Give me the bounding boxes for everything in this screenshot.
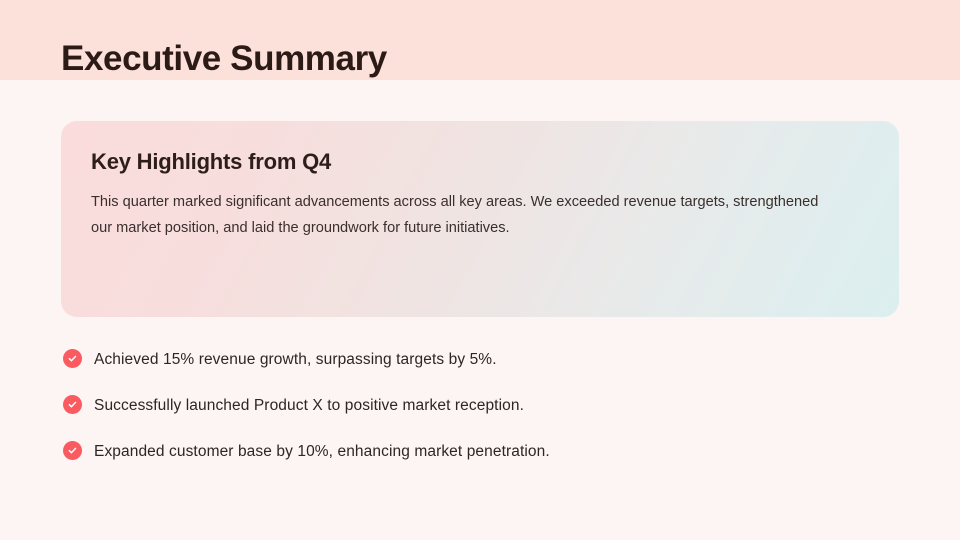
list-item: Achieved 15% revenue growth, surpassing … xyxy=(61,348,881,370)
key-highlights-card: Key Highlights from Q4 This quarter mark… xyxy=(61,121,899,317)
card-body-text: This quarter marked significant advancem… xyxy=(91,189,836,241)
check-circle-icon xyxy=(63,349,82,368)
card-heading: Key Highlights from Q4 xyxy=(91,147,331,177)
list-item: Successfully launched Product X to posit… xyxy=(61,394,881,416)
highlights-bullet-list: Achieved 15% revenue growth, surpassing … xyxy=(61,348,881,462)
list-item-label: Successfully launched Product X to posit… xyxy=(94,395,524,416)
check-circle-icon xyxy=(63,441,82,460)
list-item: Expanded customer base by 10%, enhancing… xyxy=(61,440,881,462)
slide-root: Executive Summary Key Highlights from Q4… xyxy=(0,0,960,540)
list-item-label: Expanded customer base by 10%, enhancing… xyxy=(94,441,550,462)
check-circle-icon xyxy=(63,395,82,414)
list-item-label: Achieved 15% revenue growth, surpassing … xyxy=(94,349,497,370)
header-band: Executive Summary xyxy=(0,0,960,80)
page-title: Executive Summary xyxy=(61,36,387,82)
